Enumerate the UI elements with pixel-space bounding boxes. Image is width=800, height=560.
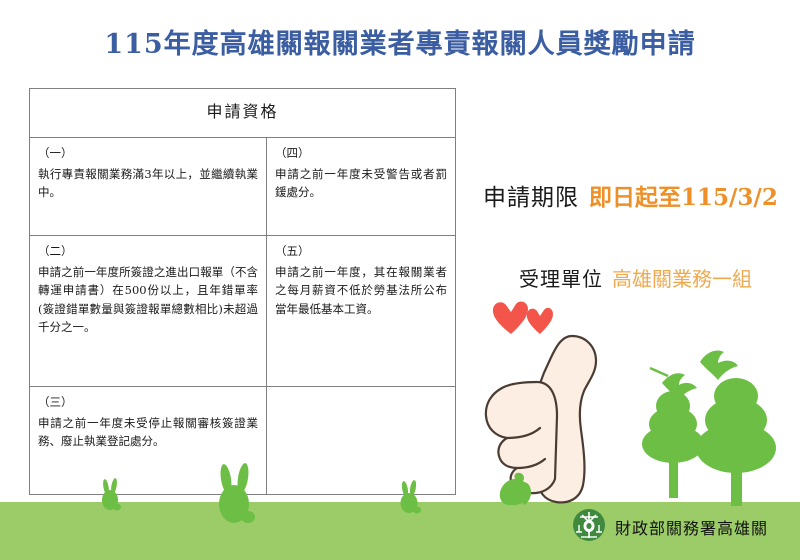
poster-canvas: 115年度高雄關報關業者專責報關人員獎勵申請 申請資格 （一） 執行專責報關業務… (0, 0, 800, 560)
rabbit-icon (398, 480, 422, 518)
item-text: 執行專責報關業務滿3年以上，並繼續執業中。 (38, 165, 258, 202)
tree-left (642, 391, 704, 498)
agency-name: 財政部關務署高雄關 (615, 515, 768, 539)
item-number: （三） (38, 393, 258, 412)
agency-emblem-icon (572, 508, 606, 546)
item-text: 申請之前一年度未受警告或者罰鍰處分。 (275, 165, 447, 202)
table-header-row: 申請資格 (30, 89, 456, 138)
application-deadline: 申請期限即日起至115/3/2 (483, 178, 778, 212)
receiving-unit: 受理單位高雄關業務一組 (519, 263, 752, 292)
table-cell-empty (267, 386, 456, 494)
qualification-table: 申請資格 （一） 執行專責報關業務滿3年以上，並繼續執業中。 （四） 申請之前一… (29, 88, 456, 495)
item-number: （一） (38, 144, 258, 163)
footer-logo: 財政部關務署高雄關 (572, 508, 768, 546)
tree-icon (628, 328, 793, 510)
table-header-cell: 申請資格 (30, 89, 456, 138)
squirrel-icon (497, 472, 533, 510)
item-text: 申請之前一年度，其在報關業者之每月薪資不低於勞基法所公布當年最低基本工資。 (275, 263, 447, 319)
table-cell-item-1: （一） 執行專責報關業務滿3年以上，並繼續執業中。 (30, 137, 267, 235)
table-cell-item-5: （五） 申請之前一年度，其在報關業者之每月薪資不低於勞基法所公布當年最低基本工資… (267, 235, 456, 386)
tree-right (696, 378, 776, 506)
item-text: 申請之前一年度所簽證之進出口報單（不含轉運申請書）在500份以上，且年錯單率(簽… (38, 263, 258, 338)
deadline-label: 申請期限 (483, 185, 579, 211)
table-row: （二） 申請之前一年度所簽證之進出口報單（不含轉運申請書）在500份以上，且年錯… (30, 235, 456, 386)
unit-value: 高雄關業務一組 (612, 267, 752, 291)
unit-label: 受理單位 (519, 267, 603, 291)
rabbit-icon (215, 462, 257, 528)
item-number: （四） (275, 144, 447, 163)
table-row: （一） 執行專責報關業務滿3年以上，並繼續執業中。 （四） 申請之前一年度未受警… (30, 137, 456, 235)
rabbit-icon (100, 478, 122, 515)
item-number: （二） (38, 242, 258, 261)
deadline-value: 即日起至115/3/2 (589, 184, 778, 211)
item-number: （五） (275, 242, 447, 261)
table-cell-item-4: （四） 申請之前一年度未受警告或者罰鍰處分。 (267, 137, 456, 235)
table-cell-item-2: （二） 申請之前一年度所簽證之進出口報單（不含轉運申請書）在500份以上，且年錯… (30, 235, 267, 386)
page-title: 115年度高雄關報關業者專責報關人員獎勵申請 (0, 22, 800, 61)
item-text: 申請之前一年度未受停止報關審核簽證業務、廢止執業登記處分。 (38, 414, 258, 451)
